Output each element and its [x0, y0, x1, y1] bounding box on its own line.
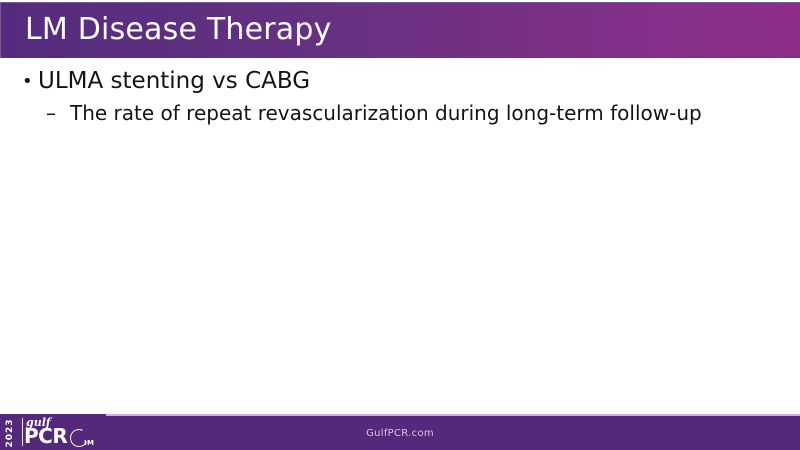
logo-pcr-label: PCR [24, 426, 67, 447]
bullet-level2-text: The rate of repeat revascularization dur… [70, 101, 702, 125]
footer-website-label: GulfPCR.com [0, 416, 800, 450]
slide-title-bar: LM Disease Therapy [0, 2, 800, 58]
bullet-level2: – The rate of repeat revascularization d… [0, 99, 800, 128]
page-title: LM Disease Therapy [25, 9, 332, 51]
slide-canvas: LM Disease Therapy • ULMA stenting vs CA… [0, 0, 800, 450]
bullet-level1: • ULMA stenting vs CABG [0, 66, 800, 97]
bullet-marker-icon: • [22, 66, 33, 97]
gulfpcr-logo: 2023 gulf PCR IM [0, 414, 106, 450]
logo-im-label: IM [84, 439, 94, 447]
slide-content-body: • ULMA stenting vs CABG – The rate of re… [0, 66, 800, 128]
logo-year-label: 2023 [5, 416, 15, 450]
dash-marker-icon: – [46, 99, 56, 128]
slide-footer-bar: GulfPCR.com [0, 414, 800, 450]
bullet-level1-text: ULMA stenting vs CABG [38, 68, 310, 94]
logo-divider [22, 418, 23, 446]
